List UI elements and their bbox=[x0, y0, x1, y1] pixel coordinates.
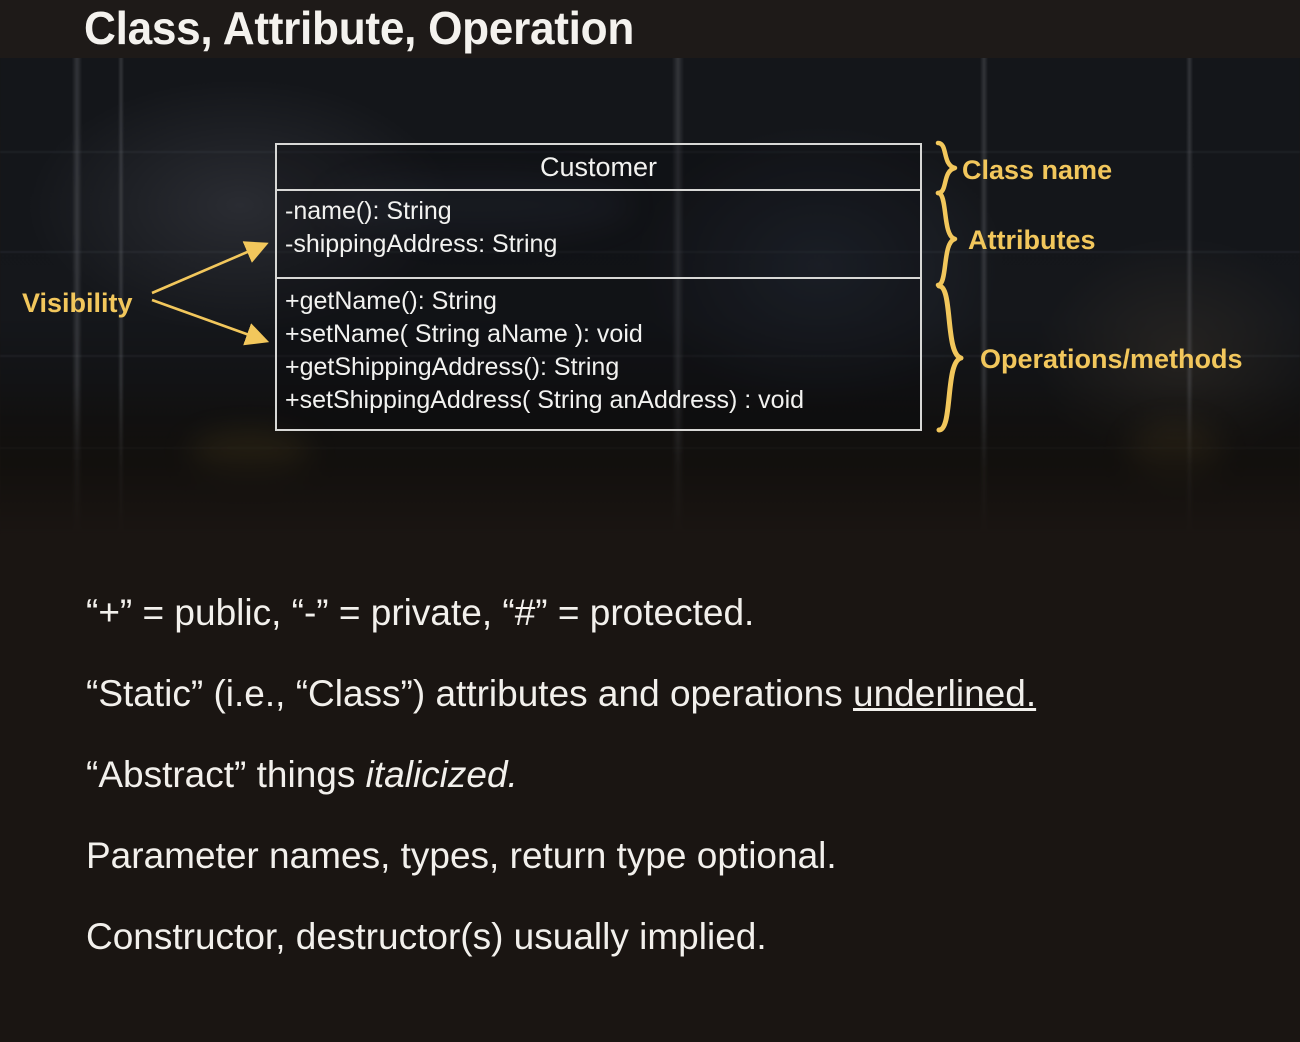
bullet-item: “Static” (i.e., “Class”) attributes and … bbox=[86, 666, 1216, 721]
annotation-attributes: Attributes bbox=[968, 225, 1096, 256]
bullet-text: Constructor, destructor(s) usually impli… bbox=[86, 916, 767, 957]
operations-compartment: +getName(): String +setName( String aNam… bbox=[277, 279, 920, 417]
annotation-class-name: Class name bbox=[962, 155, 1112, 186]
operation-row: +setShippingAddress( String anAddress) :… bbox=[285, 384, 920, 417]
class-name-compartment: Customer bbox=[277, 145, 920, 191]
bullet-item: “+” = public, “-” = private, “#” = prote… bbox=[86, 585, 1216, 640]
operation-row: +getShippingAddress(): String bbox=[285, 351, 920, 384]
operation-row: +getName(): String bbox=[285, 285, 920, 318]
bullet-list: “+” = public, “-” = private, “#” = prote… bbox=[86, 585, 1216, 990]
bullet-text: “Static” (i.e., “Class”) attributes and … bbox=[86, 673, 853, 714]
bullet-text-underlined: underlined. bbox=[853, 673, 1036, 714]
operation-row: +setName( String aName ): void bbox=[285, 318, 920, 351]
class-name: Customer bbox=[540, 152, 657, 183]
attributes-compartment: -name(): String -shippingAddress: String bbox=[277, 191, 920, 279]
attribute-row: -shippingAddress: String bbox=[285, 228, 920, 261]
annotation-operations: Operations/methods bbox=[980, 344, 1243, 375]
brace-attributes-icon bbox=[934, 190, 968, 288]
bullet-text: “+” = public, “-” = private, “#” = prote… bbox=[86, 592, 754, 633]
bullet-text: Parameter names, types, return type opti… bbox=[86, 835, 837, 876]
visibility-arrows-icon bbox=[0, 0, 300, 400]
bullet-item: “Abstract” things italicized. bbox=[86, 747, 1216, 802]
attribute-row: -name(): String bbox=[285, 195, 920, 228]
slide: Class, Attribute, Operation Customer -na… bbox=[0, 0, 1300, 1042]
bullet-text-italic: italicized. bbox=[366, 754, 518, 795]
bullet-item: Parameter names, types, return type opti… bbox=[86, 828, 1216, 883]
bullet-item: Constructor, destructor(s) usually impli… bbox=[86, 909, 1216, 964]
bullet-text: “Abstract” things bbox=[86, 754, 366, 795]
uml-class-box: Customer -name(): String -shippingAddres… bbox=[275, 143, 922, 431]
brace-operations-icon bbox=[934, 282, 974, 434]
